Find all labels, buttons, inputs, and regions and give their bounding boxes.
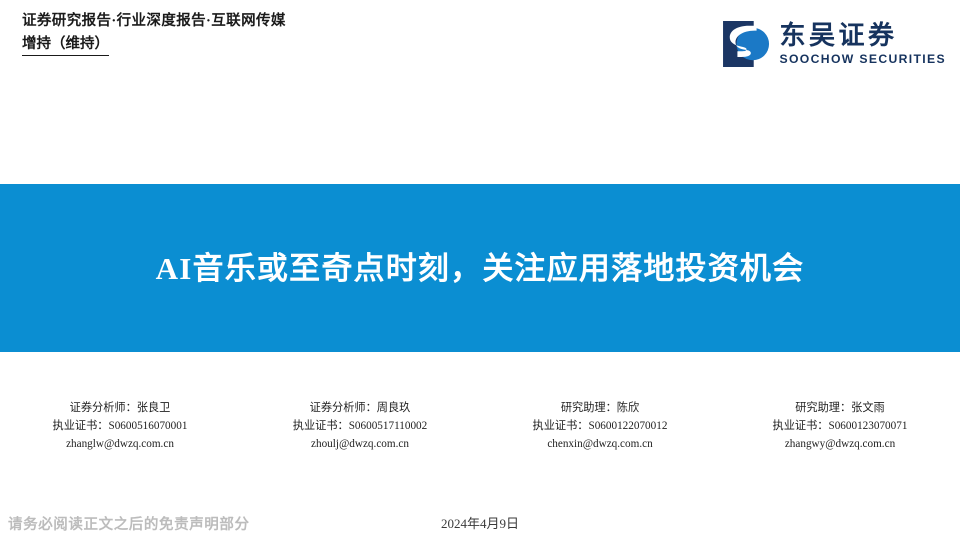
report-header-text: 证券研究报告·行业深度报告·互联网传媒 增持（维持） (22, 11, 542, 56)
analyst-role-name: 证券分析师：周良玖 (240, 400, 480, 418)
analyst-role-name: 研究助理：张文雨 (720, 400, 960, 418)
analyst-license: 执业证书：S0600516070001 (0, 418, 240, 436)
analyst-entry: 研究助理：陈欣 执业证书：S0600122070012 chenxin@dwzq… (480, 400, 720, 454)
analyst-role-name: 证券分析师：张良卫 (0, 400, 240, 418)
analyst-role-name: 研究助理：陈欣 (480, 400, 720, 418)
soochow-securities-logo-mark (723, 21, 771, 67)
analyst-email[interactable]: zhangwy@dwzq.com.cn (720, 435, 960, 454)
analyst-license: 执业证书：S0600122070012 (480, 418, 720, 436)
report-kicker: 证券研究报告·行业深度报告·互联网传媒 (22, 11, 542, 31)
slide-header: 证券研究报告·行业深度报告·互联网传媒 增持（维持） 东吴证券 SOOCHOW … (0, 0, 960, 92)
investment-rating: 增持（维持） (22, 34, 109, 56)
analyst-entry: 证券分析师：张良卫 执业证书：S0600516070001 zhanglw@dw… (0, 400, 240, 454)
analyst-entry: 证券分析师：周良玖 执业证书：S0600517110002 zhoulj@dwz… (240, 400, 480, 454)
footer-disclaimer: 请务必阅读正文之后的免责声明部分 (8, 513, 250, 534)
report-cover-slide: 证券研究报告·行业深度报告·互联网传媒 增持（维持） 东吴证券 SOOCHOW … (0, 0, 960, 540)
logo-text: 东吴证券 SOOCHOW SECURITIES (780, 22, 947, 67)
analyst-entry: 研究助理：张文雨 执业证书：S0600123070071 zhangwy@dwz… (720, 400, 960, 454)
title-band: AI音乐或至奇点时刻，关注应用落地投资机会 (0, 184, 960, 352)
analyst-list: 证券分析师：张良卫 执业证书：S0600516070001 zhanglw@dw… (0, 400, 960, 454)
report-title: AI音乐或至奇点时刻，关注应用落地投资机会 (0, 184, 960, 352)
analyst-email[interactable]: chenxin@dwzq.com.cn (480, 435, 720, 454)
logo-name-cn: 东吴证券 (780, 22, 947, 50)
company-logo: 东吴证券 SOOCHOW SECURITIES (723, 21, 947, 67)
logo-name-en: SOOCHOW SECURITIES (780, 52, 947, 67)
analyst-email[interactable]: zhanglw@dwzq.com.cn (0, 435, 240, 454)
analyst-license: 执业证书：S0600123070071 (720, 418, 960, 436)
analyst-license: 执业证书：S0600517110002 (240, 418, 480, 436)
analyst-email[interactable]: zhoulj@dwzq.com.cn (240, 435, 480, 454)
